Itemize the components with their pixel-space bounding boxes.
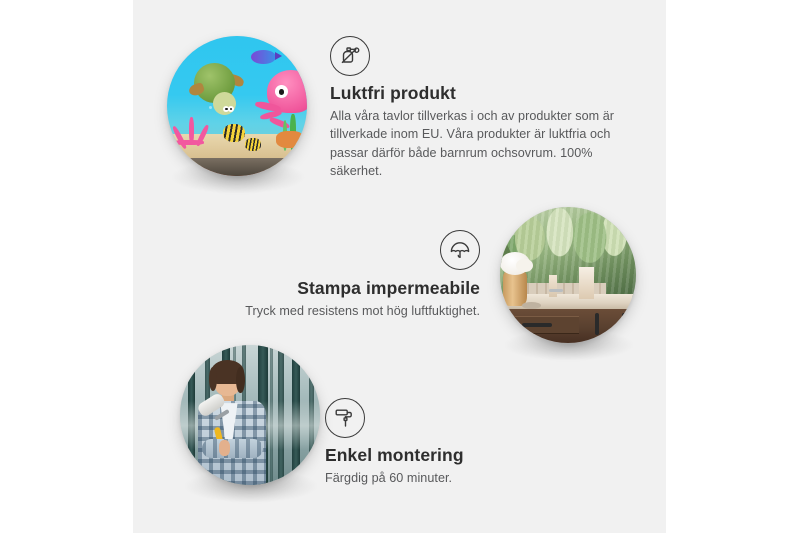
feature-waterproof: Stampa impermeabile Tryck med resistens … — [190, 230, 480, 320]
feature-description: Tryck med resistens mot hög luftfuktighe… — [190, 302, 480, 320]
seabed-shadow — [167, 158, 307, 176]
paint-roller-icon — [325, 398, 365, 438]
vase-icon — [503, 271, 527, 306]
feature-odourless: Luktfri produkt Alla våra tavlor tillver… — [330, 36, 630, 180]
feature-description: Alla våra tavlor tillverkas i och av pro… — [330, 107, 626, 180]
candle-icon — [579, 267, 594, 300]
octopus-icon — [254, 70, 307, 134]
faucet-icon — [549, 289, 563, 292]
starfish-icon — [276, 131, 304, 148]
blue-fish-icon — [251, 50, 276, 64]
screenshot-canvas: Luktfri produkt Alla våra tavlor tillver… — [0, 0, 800, 533]
woman-figure — [197, 365, 275, 485]
no-fragrance-icon — [330, 36, 370, 76]
candle-icon — [549, 275, 557, 297]
feature-title: Luktfri produkt — [330, 83, 630, 103]
feature-title: Stampa impermeabile — [190, 278, 480, 298]
coral-icon — [173, 117, 215, 162]
feature-title: Enkel montering — [325, 445, 615, 465]
photo-underwater — [167, 36, 307, 176]
drawer-handle-icon — [522, 323, 552, 327]
feature-easy-mounting: Enkel montering Färgdig på 60 minuter. — [325, 398, 615, 487]
soap-dish-icon — [522, 302, 541, 309]
feature-description: Färgdig på 60 minuter. — [325, 469, 615, 487]
photo-bathroom — [500, 207, 636, 343]
umbrella-icon — [440, 230, 480, 270]
cabinet-handle-icon — [622, 313, 626, 335]
sea-turtle-icon — [189, 63, 248, 119]
white-flowers-icon — [516, 259, 532, 273]
striped-fish-icon — [245, 138, 260, 151]
cabinet-handle-icon — [595, 313, 599, 335]
photo-decorator — [180, 345, 320, 485]
